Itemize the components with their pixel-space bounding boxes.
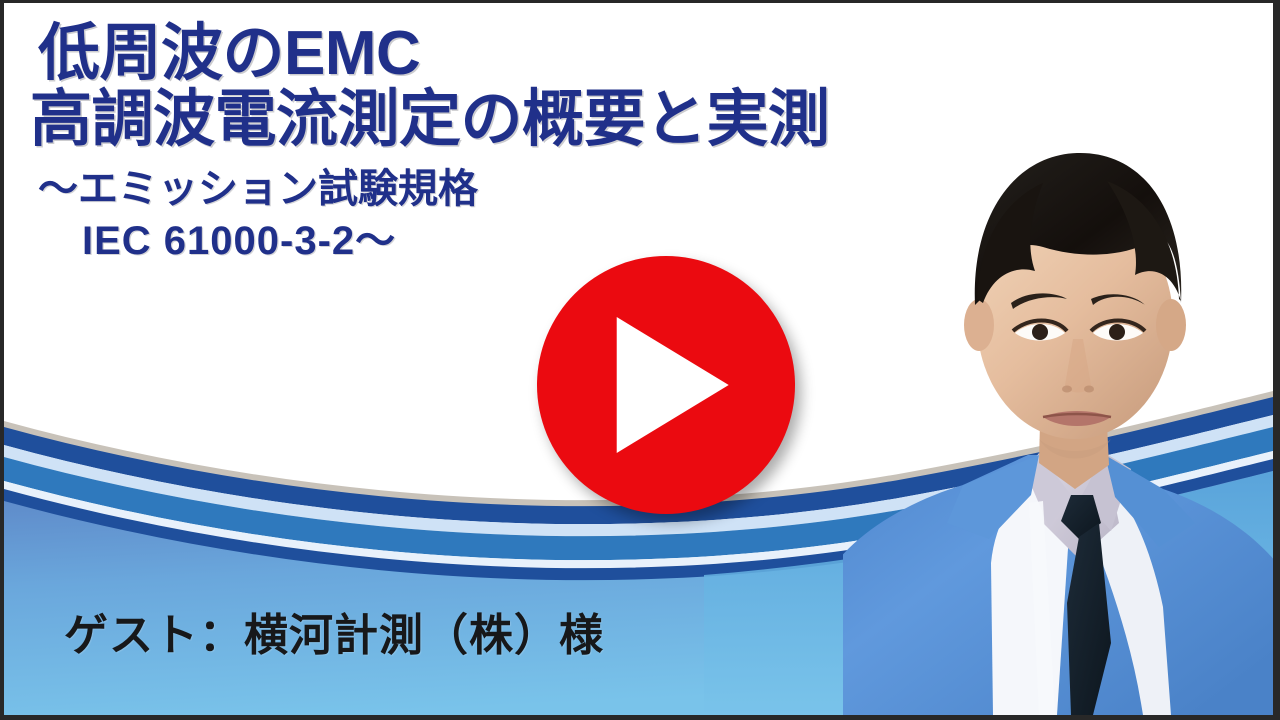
subtitle-line-1: 〜エミッション試験規格 [38,166,1273,213]
play-triangle-icon[interactable] [617,317,729,453]
slide-canvas: 低周波のEMC 高調波電流測定の概要と実測 〜エミッション試験規格 IEC 61… [4,3,1273,715]
title-line-1: 低周波のEMC [38,21,1273,87]
headline-block: 低周波のEMC 高調波電流測定の概要と実測 〜エミッション試験規格 IEC 61… [4,3,1273,265]
video-thumbnail[interactable]: 低周波のEMC 高調波電流測定の概要と実測 〜エミッション試験規格 IEC 61… [0,0,1280,720]
title-line-2: 高調波電流測定の概要と実測 [30,87,1273,153]
guest-credit: ゲスト：横河計測（株）様 [64,599,604,663]
play-button[interactable] [537,256,795,514]
